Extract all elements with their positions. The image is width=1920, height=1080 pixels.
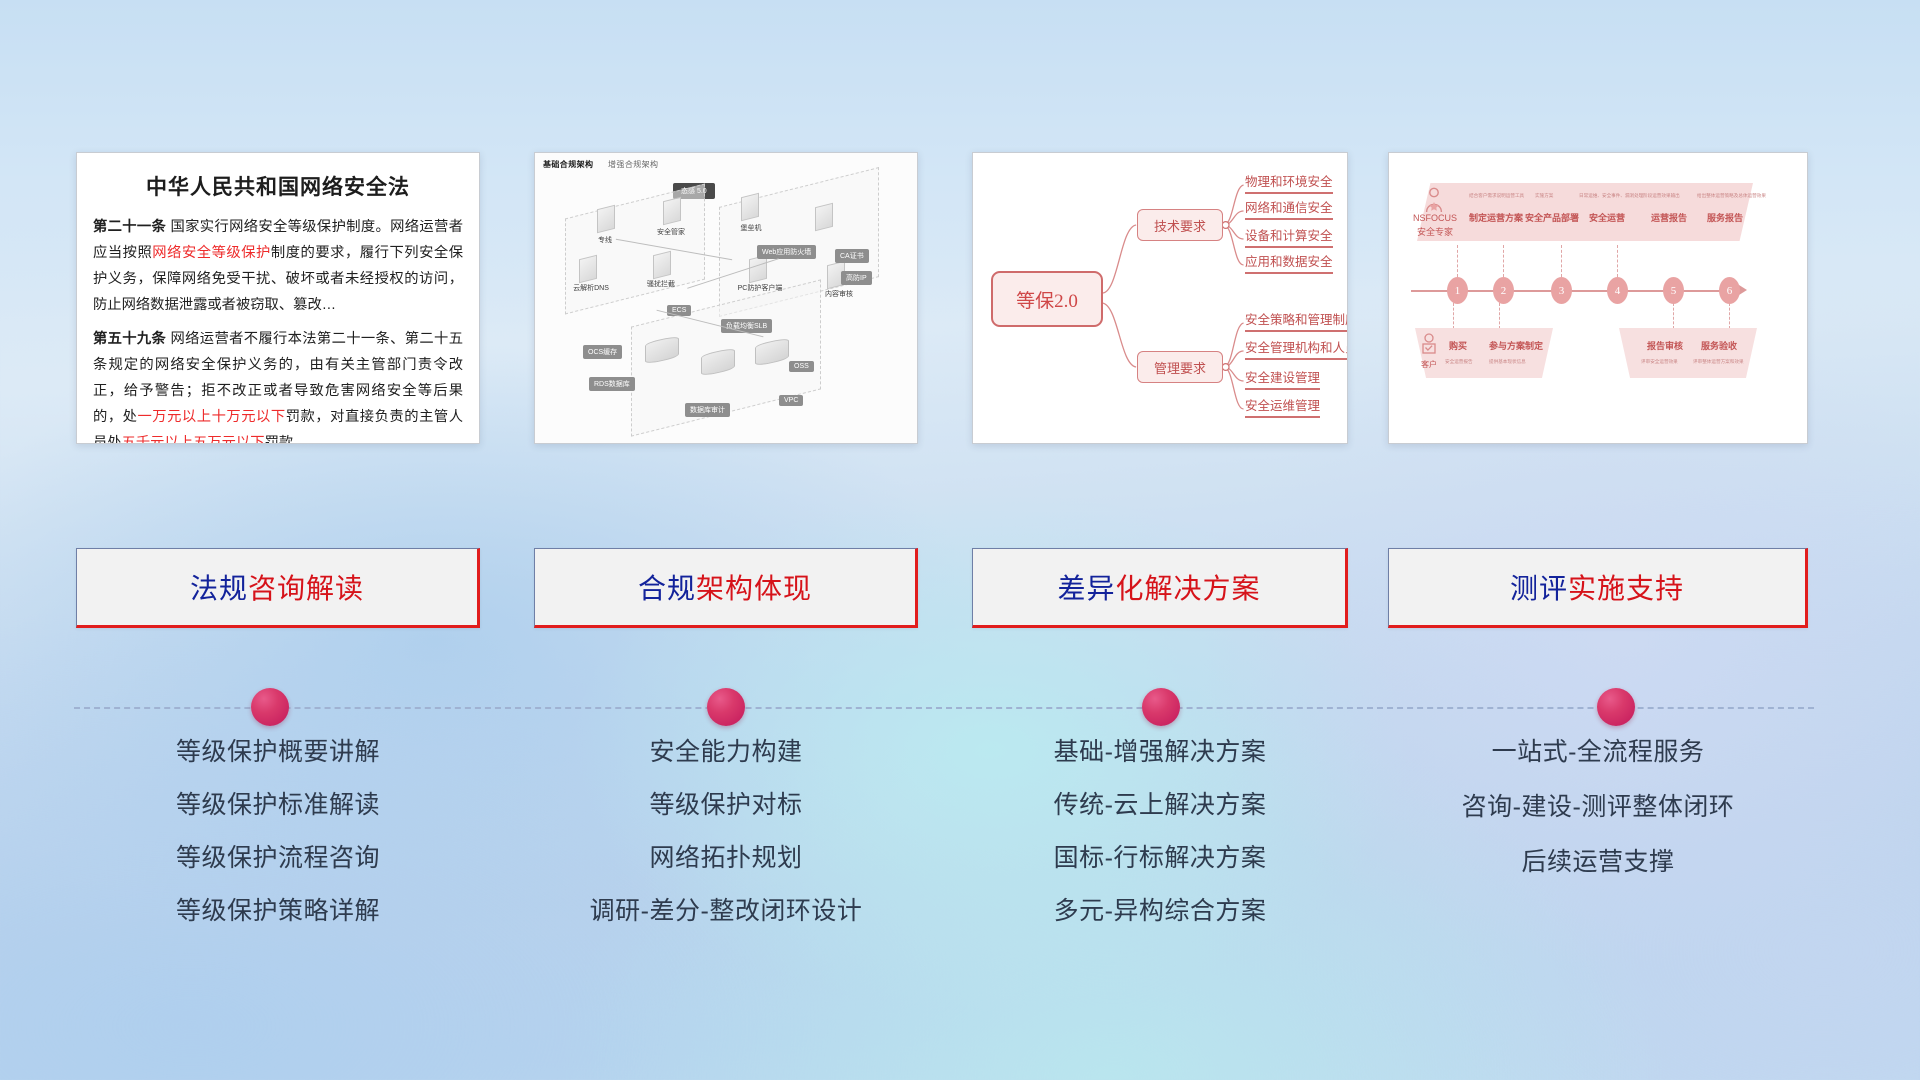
section-title-4-suffix: 实施支持 <box>1568 573 1684 604</box>
section-title-box-3[interactable]: 差异化解决方案 <box>972 548 1348 628</box>
timeline <box>0 688 1920 728</box>
section-title-text-1: 法规咨询解读 <box>190 567 364 607</box>
detail-column-2: 安全能力构建 等级保护对标 网络拓扑规划 调研-差分-整改闭环设计 <box>534 740 918 952</box>
list-item: 一站式-全流程服务 <box>1388 740 1808 765</box>
list-item: 基础-增强解决方案 <box>972 740 1348 765</box>
section-title-text-4: 测评实施支持 <box>1510 567 1684 607</box>
list-item: 传统-云上解决方案 <box>972 793 1348 818</box>
section-title-box-2[interactable]: 合规架构体现 <box>534 548 918 628</box>
list-item: 等级保护对标 <box>534 793 918 818</box>
list-item: 等级保护策略详解 <box>76 899 480 924</box>
list-item: 国标-行标解决方案 <box>972 846 1348 871</box>
list-item: 等级保护标准解读 <box>76 793 480 818</box>
section-title-1-prefix: 法规 <box>190 573 248 604</box>
list-item: 等级保护概要讲解 <box>76 740 480 765</box>
section-title-text-3: 差异化解决方案 <box>1057 567 1260 607</box>
list-item: 网络拓扑规划 <box>534 846 918 871</box>
timeline-dot-1[interactable] <box>251 688 289 726</box>
list-item: 多元-异构综合方案 <box>972 899 1348 924</box>
list-item: 后续运营支撑 <box>1388 850 1808 875</box>
section-title-2-prefix: 合规 <box>638 573 696 604</box>
timeline-dashed-line <box>74 707 1814 709</box>
section-title-2-suffix: 架构体现 <box>696 573 812 604</box>
section-title-text-2: 合规架构体现 <box>638 567 812 607</box>
list-item: 等级保护流程咨询 <box>76 846 480 871</box>
section-title-3-prefix: 差异 <box>1057 573 1115 604</box>
detail-column-1: 等级保护概要讲解 等级保护标准解读 等级保护流程咨询 等级保护策略详解 <box>76 740 480 952</box>
section-title-box-4[interactable]: 测评实施支持 <box>1388 548 1808 628</box>
section-title-4-prefix: 测评 <box>1510 573 1568 604</box>
detail-columns: 等级保护概要讲解 等级保护标准解读 等级保护流程咨询 等级保护策略详解 安全能力… <box>0 740 1920 1000</box>
list-item: 调研-差分-整改闭环设计 <box>534 899 918 924</box>
detail-column-4: 一站式-全流程服务 咨询-建设-测评整体闭环 后续运营支撑 <box>1388 740 1808 905</box>
timeline-dot-4[interactable] <box>1597 688 1635 726</box>
timeline-dot-2[interactable] <box>707 688 745 726</box>
list-item: 安全能力构建 <box>534 740 918 765</box>
detail-column-3: 基础-增强解决方案 传统-云上解决方案 国标-行标解决方案 多元-异构综合方案 <box>972 740 1348 952</box>
list-item: 咨询-建设-测评整体闭环 <box>1388 795 1808 820</box>
section-title-3-suffix: 化解决方案 <box>1116 573 1261 604</box>
section-title-1-suffix: 咨询解读 <box>248 573 364 604</box>
section-title-box-1[interactable]: 法规咨询解读 <box>76 548 480 628</box>
timeline-dot-3[interactable] <box>1142 688 1180 726</box>
